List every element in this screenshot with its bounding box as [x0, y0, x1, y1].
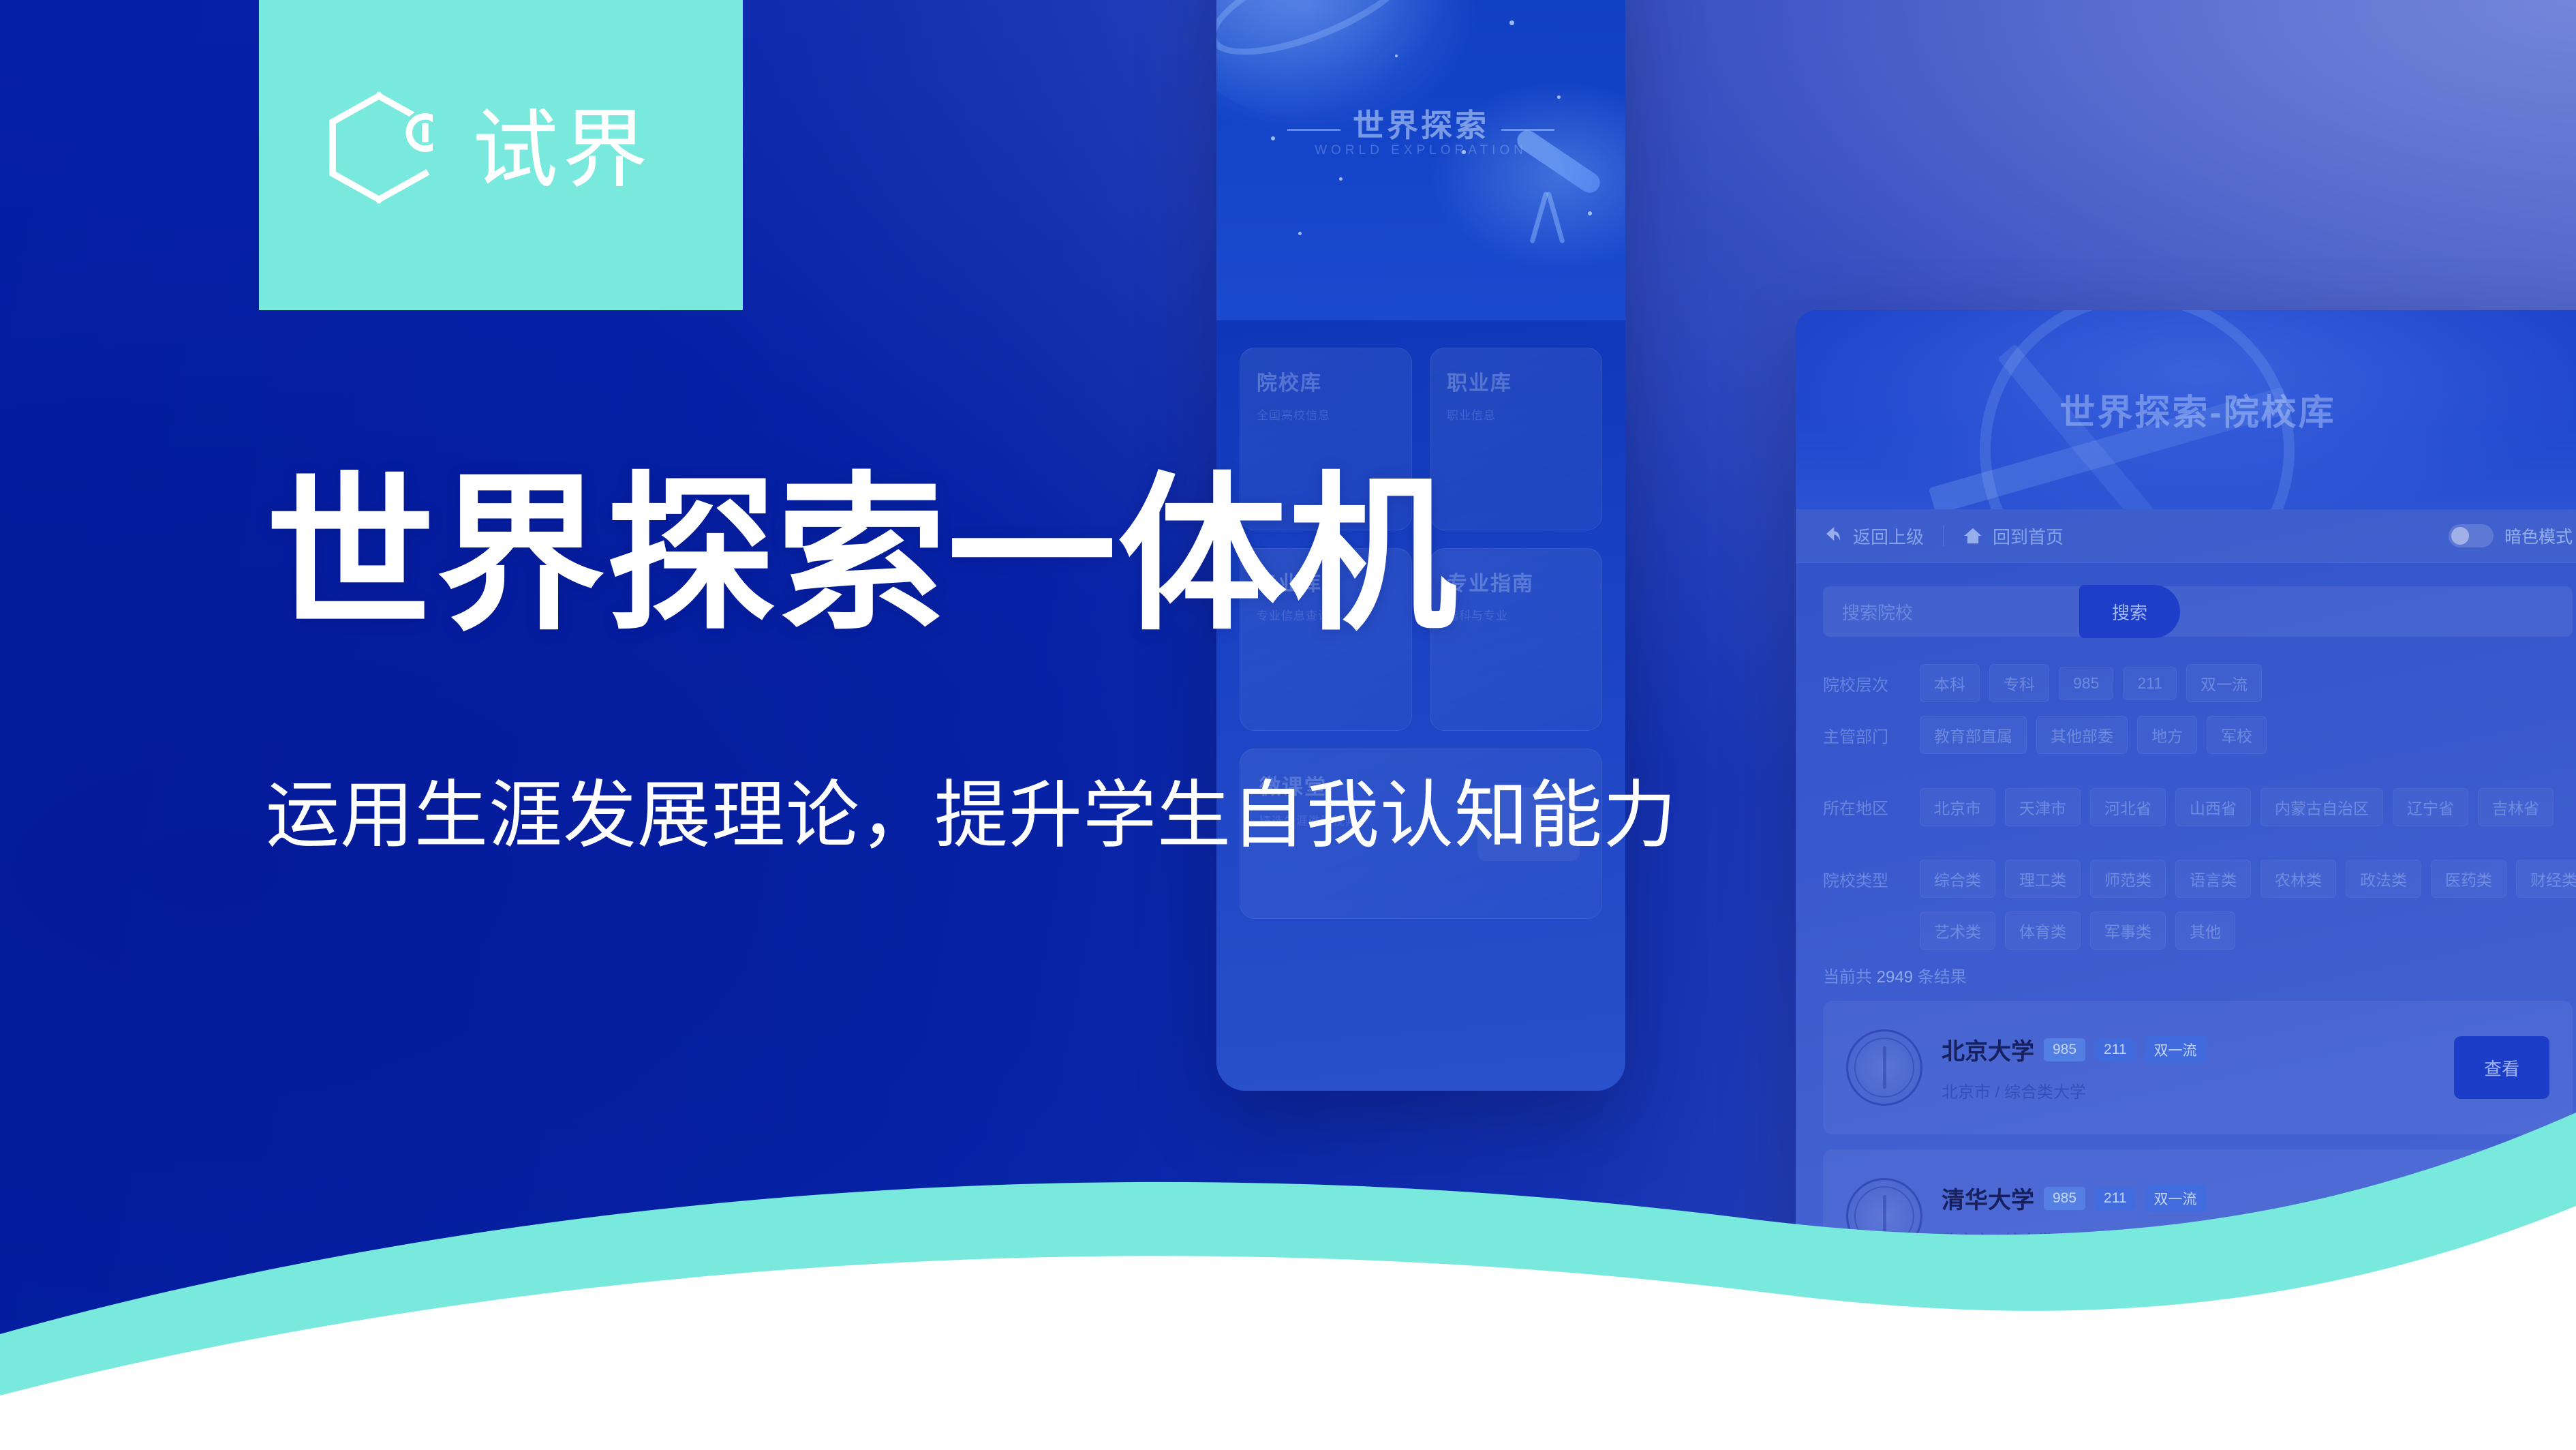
filter-label: 主管部门 [1823, 723, 1910, 747]
svg-text:试界: 试界 [472, 108, 652, 196]
filter-label: 所在地区 [1823, 795, 1910, 819]
arrow-back-icon [1823, 524, 1843, 549]
filter-chip[interactable]: 财经类 [2516, 860, 2576, 898]
filter-chip[interactable]: 其他 [2175, 911, 2235, 950]
filter-chip[interactable]: 理工类 [2005, 860, 2081, 898]
filter-chip[interactable]: 师范类 [2090, 860, 2166, 898]
phone-card-subtitle: 全国高校信息 [1257, 406, 1395, 423]
filter-label: 院校层次 [1823, 671, 1910, 695]
result-count-suffix: 条结果 [1918, 968, 1967, 986]
filter-chip[interactable]: 医药类 [2431, 860, 2506, 898]
filter-chip[interactable]: 语言类 [2175, 860, 2251, 898]
filter-label: 院校类型 [1823, 867, 1910, 891]
hexagon-degree-icon [325, 91, 433, 213]
phone-card-subtitle: 职业信息 [1447, 406, 1585, 423]
filter-chip[interactable]: 天津市 [2005, 788, 2081, 826]
result-count: 当前共 2949 条结果 [1823, 963, 2573, 987]
tablet-toolbar: 返回上级 回到首页 暗色模式 [1796, 509, 2576, 563]
toolbar-divider [1943, 526, 1944, 546]
filter-chip[interactable]: 985 [2059, 667, 2113, 700]
filter-chip[interactable]: 吉林省 [2478, 788, 2554, 826]
filter-chip[interactable]: 教育部直属 [1920, 716, 2027, 754]
filter-row-department: 主管部门 教育部直属 其他部委 地方 军校 [1823, 716, 2573, 754]
phone-hero-title: 世界探索 [1216, 101, 1625, 146]
phone-card-subtitle: 选科与专业 [1447, 606, 1585, 623]
filter-chip[interactable]: 综合类 [1920, 860, 1995, 898]
phone-card-title: 职业库 [1447, 366, 1585, 396]
filter-chip[interactable]: 艺术类 [1920, 911, 1995, 950]
search-button[interactable]: 搜索 [2079, 585, 2180, 638]
filter-row-type-cont: 艺术类 体育类 军事类 其他 [1823, 911, 2573, 950]
brand-logo-badge: 试界 [259, 0, 743, 310]
back-to-parent-button[interactable]: 返回上级 [1823, 524, 1924, 549]
go-home-label: 回到首页 [1993, 524, 2064, 549]
school-search-bar: 搜索院校 搜索 [1823, 586, 2573, 637]
filter-chip[interactable]: 辽宁省 [2393, 788, 2468, 826]
filter-chip[interactable]: 专科 [1989, 664, 2049, 702]
filter-row-level: 院校层次 本科 专科 985 211 双一流 [1823, 664, 2573, 702]
filter-chip[interactable]: 政法类 [2346, 860, 2421, 898]
dark-mode-label: 暗色模式 [2504, 524, 2573, 548]
phone-card-title: 专业指南 [1447, 567, 1585, 596]
filter-chip[interactable]: 本科 [1920, 664, 1980, 702]
filter-row-type: 院校类型 综合类 理工类 师范类 语言类 农林类 政法类 医药类 财经类 民族类 [1823, 860, 2573, 898]
search-input[interactable]: 搜索院校 [1823, 599, 1913, 624]
filter-chip[interactable]: 河北省 [2090, 788, 2166, 826]
filter-chip[interactable]: 山西省 [2175, 788, 2251, 826]
filter-chip[interactable]: 其他部委 [2036, 716, 2128, 754]
filter-chip[interactable]: 北京市 [1920, 788, 1995, 826]
bottom-wave-decoration [0, 1014, 2576, 1450]
tablet-hero: 世界探索-院校库 [1796, 310, 2576, 509]
telescope-icon [1488, 140, 1602, 255]
filter-chip[interactable]: 军校 [2207, 716, 2267, 754]
expand-regions-button[interactable]: 展开 ∨ [2563, 768, 2576, 846]
phone-hero-title-text: 世界探索 [1353, 108, 1489, 143]
phone-hero: 世界探索 WORLD EXPLORATION [1216, 0, 1625, 320]
rule-left-icon [1287, 129, 1340, 131]
filter-chip[interactable]: 双一流 [2186, 664, 2262, 702]
phone-card-title: 院校库 [1257, 366, 1395, 396]
filter-chip[interactable]: 内蒙古自治区 [2260, 788, 2383, 826]
result-count-prefix: 当前共 [1823, 968, 1872, 986]
filter-chip[interactable]: 体育类 [2005, 911, 2081, 950]
dark-mode-toggle[interactable]: 暗色模式 [2449, 524, 2573, 548]
poster-canvas: 世界探索 WORLD EXPLORATION 院校库 全国高校信息 职业库 职业… [0, 0, 2576, 1450]
filter-row-region: 所在地区 北京市 天津市 河北省 山西省 内蒙古自治区 辽宁省 吉林省 展开 ∨ [1823, 768, 2573, 846]
back-to-parent-label: 返回上级 [1853, 524, 1924, 549]
page-subtitle: 运用生涯发展理论，提升学生自我认知能力 [266, 779, 1677, 852]
brand-wordmark: 试界 [472, 108, 677, 196]
home-icon [1963, 526, 1983, 546]
filter-chip[interactable]: 211 [2123, 667, 2177, 700]
result-count-value: 2949 [1877, 968, 1913, 986]
toggle-switch[interactable] [2449, 524, 2494, 547]
filter-panel: 院校层次 本科 专科 985 211 双一流 主管部门 教育部直属 其他部委 地… [1823, 664, 2573, 950]
tablet-hero-title: 世界探索-院校库 [1796, 384, 2576, 435]
go-home-button[interactable]: 回到首页 [1963, 524, 2064, 549]
filter-chip[interactable]: 地方 [2137, 716, 2197, 754]
filter-chip[interactable]: 军事类 [2090, 911, 2166, 950]
filter-chip[interactable]: 农林类 [2260, 860, 2336, 898]
page-title: 世界探索一体机 [266, 470, 1458, 639]
